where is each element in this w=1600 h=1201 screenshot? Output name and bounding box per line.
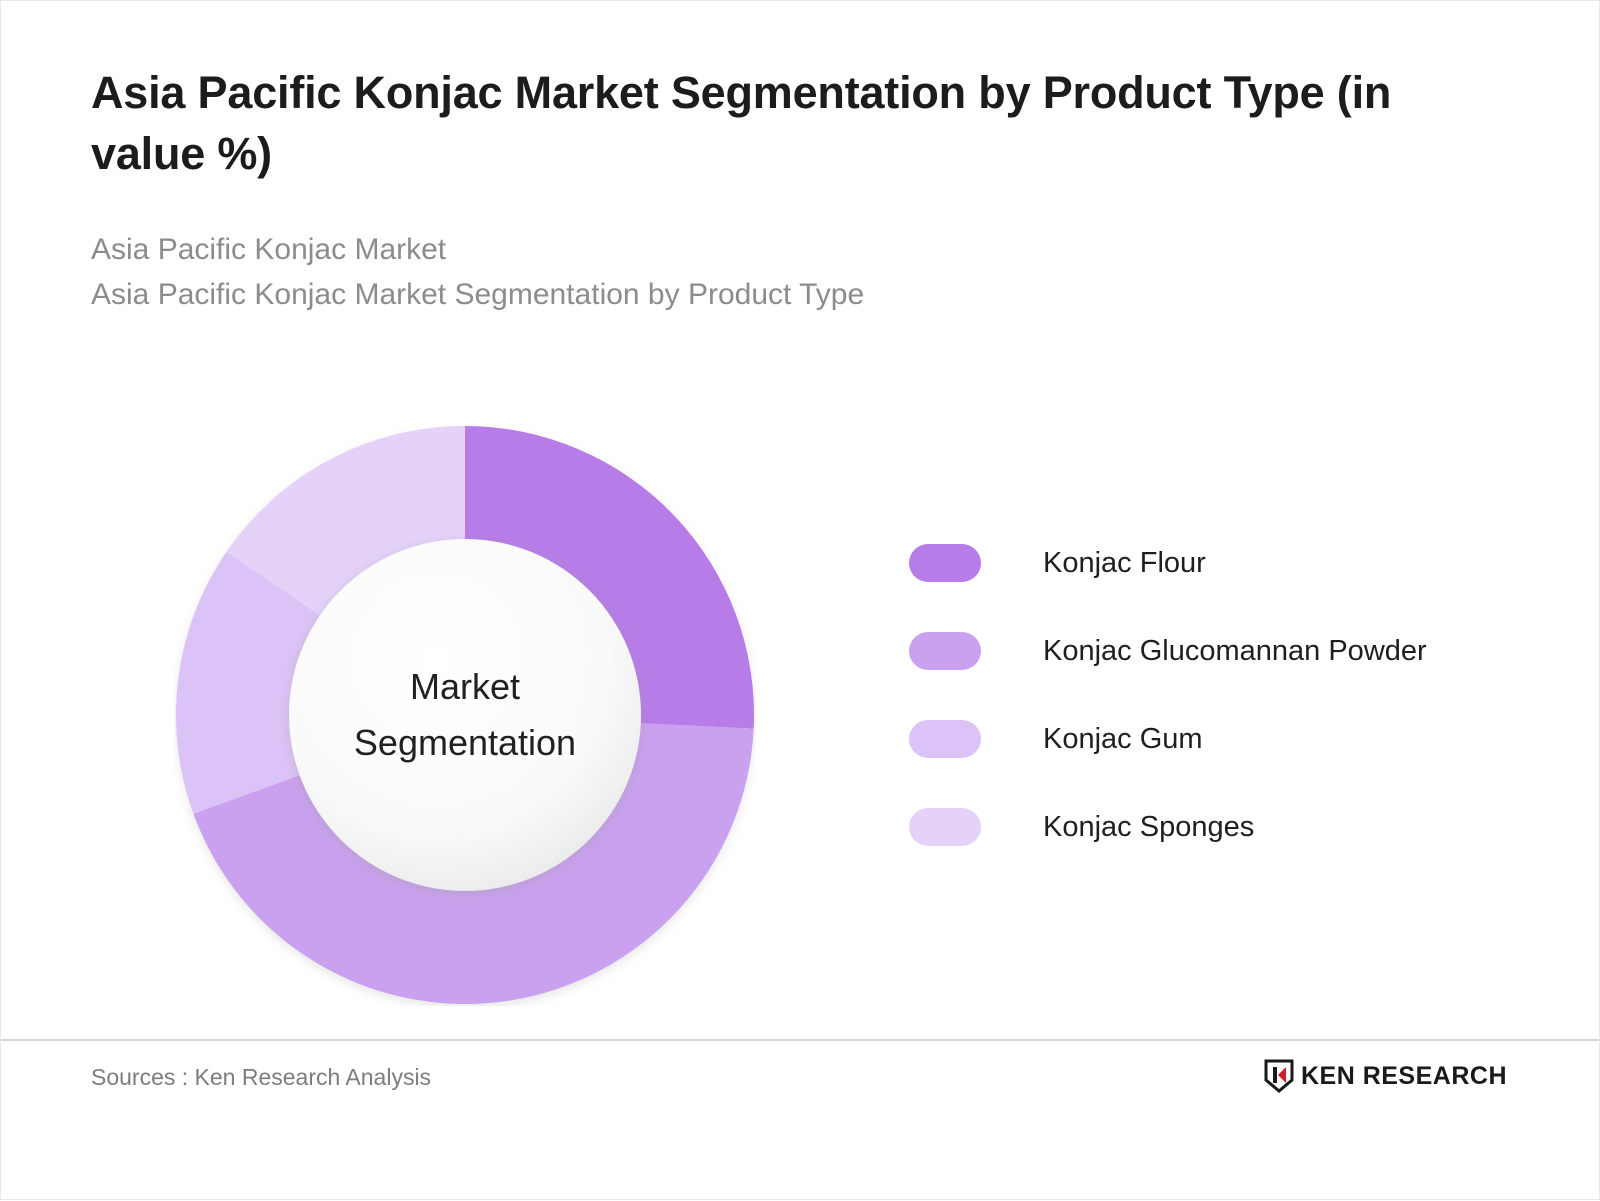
legend: Konjac Flour Konjac Glucomannan Powder K… (909, 519, 1549, 871)
subtitle-group: Asia Pacific Konjac Market Asia Pacific … (91, 227, 1511, 317)
donut-hole (289, 539, 641, 891)
legend-label: Konjac Sponges (1043, 811, 1254, 844)
legend-item-konjac-gum[interactable]: Konjac Gum (909, 695, 1549, 783)
subtitle-segmentation: Asia Pacific Konjac Market Segmentation … (91, 272, 1511, 317)
subtitle-market: Asia Pacific Konjac Market (91, 227, 1511, 272)
donut-chart: Market Segmentation (174, 424, 756, 1006)
brand-name: KEN RESEARCH (1301, 1062, 1507, 1091)
legend-swatch-icon (909, 808, 981, 846)
legend-item-konjac-flour[interactable]: Konjac Flour (909, 519, 1549, 607)
source-text: Sources : Ken Research Analysis (91, 1064, 431, 1091)
ken-research-shield-icon (1264, 1059, 1294, 1093)
legend-label: Konjac Flour (1043, 547, 1206, 580)
legend-label: Konjac Glucomannan Powder (1043, 635, 1427, 668)
header: Asia Pacific Konjac Market Segmentation … (91, 63, 1511, 317)
legend-item-konjac-sponges[interactable]: Konjac Sponges (909, 783, 1549, 871)
legend-item-konjac-glucomannan-powder[interactable]: Konjac Glucomannan Powder (909, 607, 1549, 695)
legend-swatch-icon (909, 632, 981, 670)
legend-label: Konjac Gum (1043, 723, 1203, 756)
donut-svg (174, 424, 756, 1006)
brand-logo: KEN RESEARCH (1264, 1059, 1507, 1093)
chart-page: Asia Pacific Konjac Market Segmentation … (0, 0, 1600, 1200)
page-title: Asia Pacific Konjac Market Segmentation … (91, 63, 1511, 185)
legend-swatch-icon (909, 544, 981, 582)
legend-swatch-icon (909, 720, 981, 758)
chart-area: Market Segmentation Konjac Flour Konjac … (1, 391, 1600, 1041)
footer: Sources : Ken Research Analysis KEN RESE… (1, 1039, 1599, 1201)
